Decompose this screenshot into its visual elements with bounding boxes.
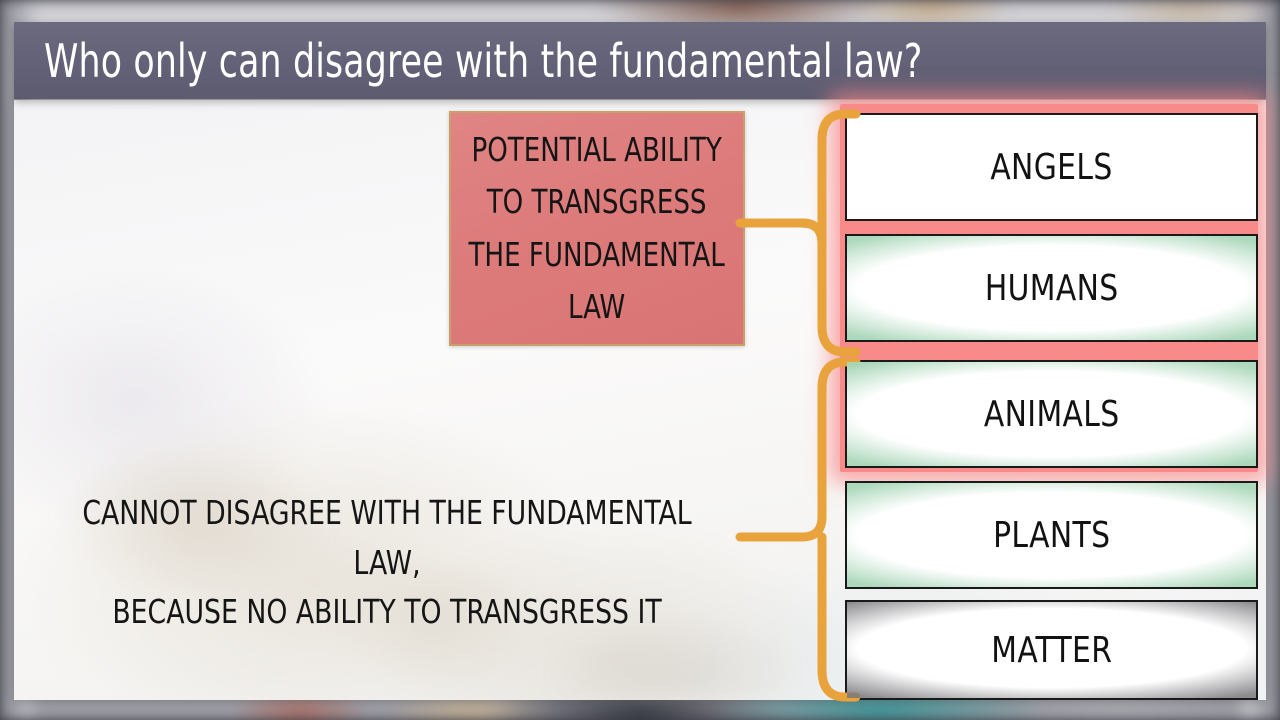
category-box-plants[interactable]: PLANTS xyxy=(845,481,1258,589)
slide-canvas: Who only can disagree with the fundament… xyxy=(0,0,1280,720)
slide-title-bar: Who only can disagree with the fundament… xyxy=(14,22,1266,99)
red-box-line-2: TO TRANSGRESS xyxy=(469,176,725,228)
red-box-line-4: LAW xyxy=(469,281,725,333)
category-label-humans: HUMANS xyxy=(985,268,1119,309)
category-box-humans[interactable]: HUMANS xyxy=(845,234,1258,342)
caption-line-2: BECAUSE NO ABILITY TO TRANSGRESS IT xyxy=(59,587,716,637)
category-label-animals: ANIMALS xyxy=(984,394,1120,435)
category-box-angels[interactable]: ANGELS xyxy=(845,113,1258,221)
red-box-line-1: POTENTIAL ABILITY xyxy=(469,124,725,176)
cannot-disagree-caption: CANNOT DISAGREE WITH THE FUNDAMENTAL LAW… xyxy=(59,488,716,637)
page-title: Who only can disagree with the fundament… xyxy=(44,34,922,88)
category-label-angels: ANGELS xyxy=(990,147,1112,188)
caption-line-1: CANNOT DISAGREE WITH THE FUNDAMENTAL LAW… xyxy=(59,488,716,587)
category-label-plants: PLANTS xyxy=(993,515,1110,556)
category-label-matter: MATTER xyxy=(991,630,1112,671)
category-box-animals[interactable]: ANIMALS xyxy=(845,360,1258,468)
potential-ability-box-text: POTENTIAL ABILITY TO TRANSGRESS THE FUND… xyxy=(469,124,725,333)
category-box-matter[interactable]: MATTER xyxy=(845,600,1258,700)
potential-ability-box: POTENTIAL ABILITY TO TRANSGRESS THE FUND… xyxy=(449,111,745,346)
red-box-line-3: THE FUNDAMENTAL xyxy=(469,229,725,281)
